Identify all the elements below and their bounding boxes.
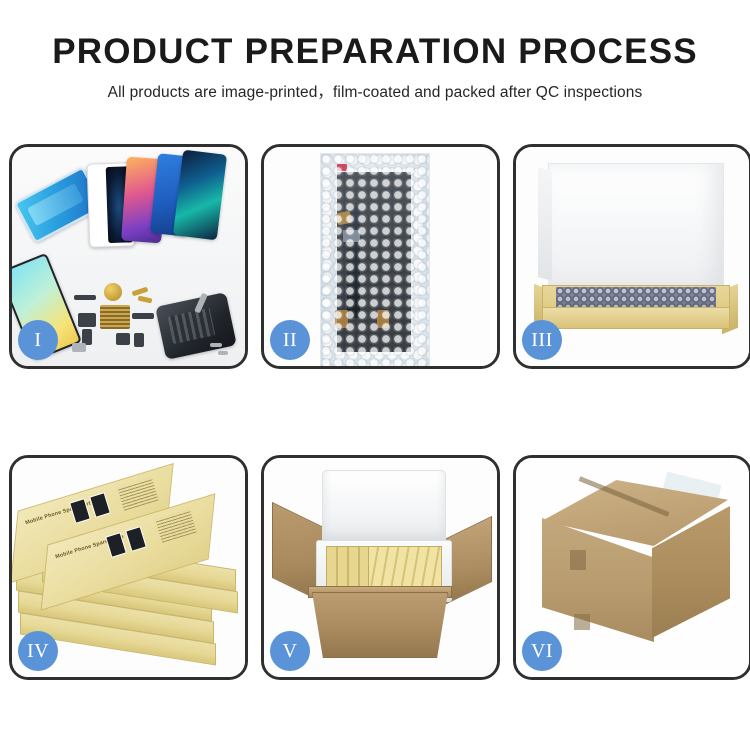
page-title: PRODUCT PREPARATION PROCESS xyxy=(0,34,750,71)
yellow-boxes-inside-right xyxy=(368,546,442,590)
step-badge-5: V xyxy=(270,631,310,671)
box-tray-front xyxy=(542,307,730,329)
spare-part-bracket xyxy=(78,313,96,327)
bubble-wrap-bag xyxy=(320,153,430,366)
foam-box-lid xyxy=(322,470,446,544)
box-white-lid xyxy=(548,163,724,289)
spare-part-button xyxy=(134,333,144,347)
step-panel-6[interactable]: VI xyxy=(513,455,750,680)
lcd-driver-chip xyxy=(343,230,360,242)
spare-part-camera xyxy=(116,333,130,345)
step-panel-1[interactable]: I xyxy=(9,144,248,369)
step-badge-2: II xyxy=(270,320,310,360)
spare-part-screw xyxy=(210,343,222,347)
lcd-gold-contact-right xyxy=(377,310,389,328)
spare-part-screw-2 xyxy=(218,351,228,355)
spare-part-speaker xyxy=(104,283,122,301)
step-panel-5[interactable]: V xyxy=(261,455,500,680)
header: PRODUCT PREPARATION PROCESS All products… xyxy=(0,0,750,102)
spare-part-strip xyxy=(74,295,96,300)
page-subtitle: All products are image-printed，film-coat… xyxy=(0,80,750,102)
step-badge-6: VI xyxy=(522,631,562,671)
lcd-gold-contact-left xyxy=(335,310,348,328)
spare-part-screw-tray xyxy=(100,305,130,329)
phone-back-housing xyxy=(155,292,237,360)
box-lid-side xyxy=(538,167,552,281)
product-preparation-page: PRODUCT PREPARATION PROCESS All products… xyxy=(0,0,750,750)
step-panel-3[interactable]: III xyxy=(513,144,750,369)
bag-red-sticker xyxy=(337,164,347,171)
carton-tab-upper xyxy=(570,550,586,570)
carton-front-wall xyxy=(312,592,448,658)
steps-grid: I II xyxy=(9,144,741,680)
step-badge-3: III xyxy=(522,320,562,360)
carton-tab-lower xyxy=(574,614,590,630)
phone-screen-teal xyxy=(173,150,227,241)
spare-part-cable xyxy=(132,313,154,319)
spare-part-sim-tray xyxy=(72,343,86,352)
step-badge-4: IV xyxy=(18,631,58,671)
step-panel-4[interactable]: Mobile Phone Spare Parts Mobile Phone Sp… xyxy=(9,455,248,680)
spare-part-gold-flex-2 xyxy=(138,296,153,304)
step-badge-1: I xyxy=(18,320,58,360)
step-panel-2[interactable]: II xyxy=(261,144,500,369)
